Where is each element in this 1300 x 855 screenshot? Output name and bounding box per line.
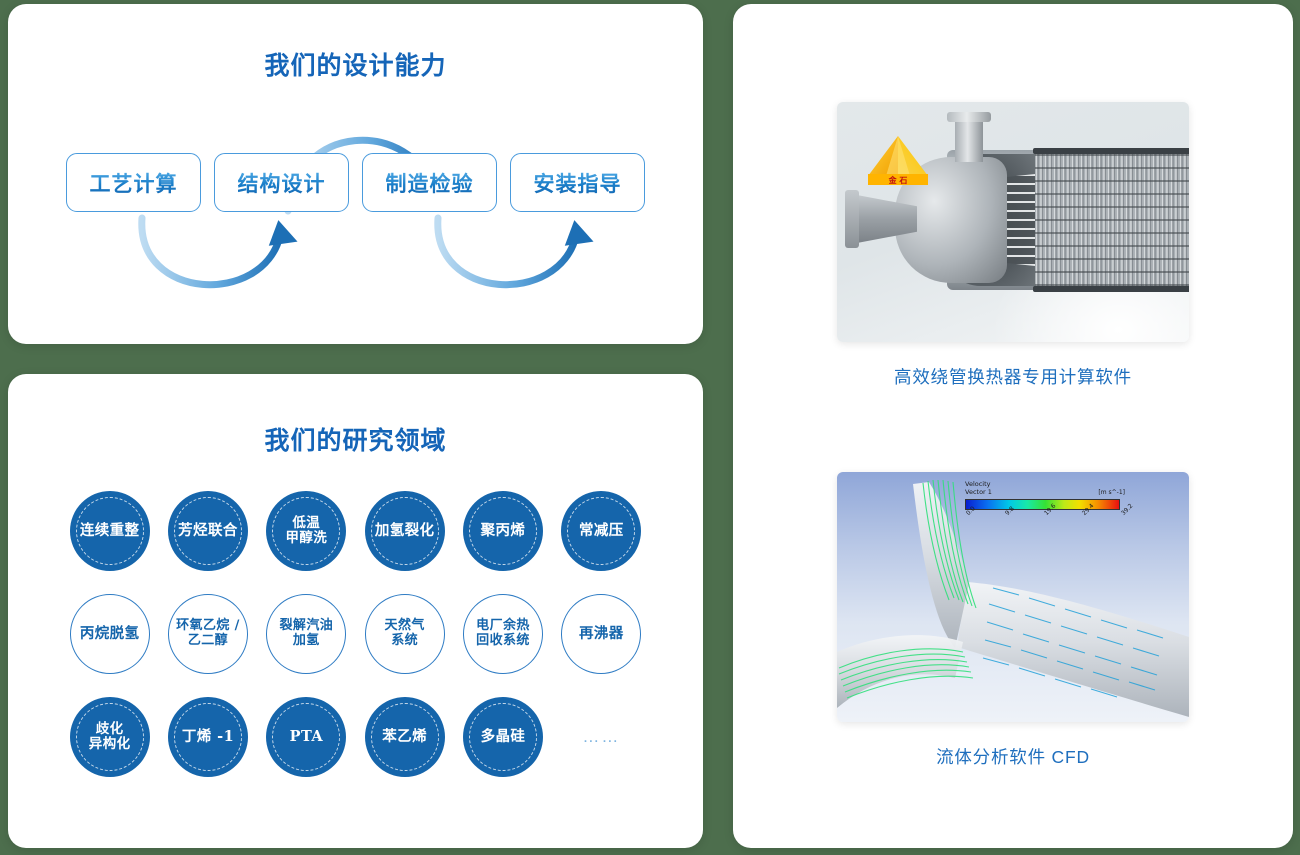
research-area-circle[interactable]: 天然气系统 xyxy=(365,594,445,674)
cfd-legend-title: Velocity xyxy=(965,480,991,488)
page-root: 我们的设计能力 xyxy=(0,0,1300,855)
research-area-label: 连续重整 xyxy=(80,523,140,539)
research-area-label: 电厂余热回收系统 xyxy=(476,619,530,648)
capability-step-1[interactable]: 结构设计 xyxy=(214,153,349,212)
research-area-label: 裂解汽油加氢 xyxy=(280,619,334,648)
research-area-circle[interactable]: 裂解汽油加氢 xyxy=(266,594,346,674)
research-area-label: 加氢裂化 xyxy=(375,523,435,539)
heat-exchanger-flange xyxy=(845,190,859,248)
research-area-label: 歧化异构化 xyxy=(89,722,131,752)
research-area-grid: 连续重整芳烃联合低温甲醇洗加氢裂化聚丙烯常减压丙烷脱氢环氧乙烷 /乙二醇裂解汽油… xyxy=(61,491,651,777)
research-area-label: 天然气系统 xyxy=(385,619,425,648)
research-area-label: 多晶硅 xyxy=(481,729,526,745)
flow-arc-bottom-right xyxy=(438,218,576,285)
research-area-circle[interactable]: 聚丙烯 xyxy=(463,491,543,571)
software-item-heat-exchanger: 金 石 高效绕管换热器专用计算软件 xyxy=(733,102,1293,389)
software-showcase-card: 金 石 高效绕管换热器专用计算软件 xyxy=(733,4,1293,848)
research-area-label: 丙烷脱氢 xyxy=(80,626,140,642)
heat-exchanger-image: 金 石 xyxy=(837,102,1189,342)
research-area-label: 环氧乙烷 /乙二醇 xyxy=(176,619,240,648)
research-area-circle[interactable]: 连续重整 xyxy=(70,491,150,571)
software-item-cfd: Velocity Vector 1 [m s^-1] 0.09.819.629.… xyxy=(733,472,1293,769)
design-capabilities-card: 我们的设计能力 xyxy=(8,4,703,344)
software-caption-cfd: 流体分析软件 CFD xyxy=(733,744,1293,769)
capability-flow-diagram: 工艺计算 结构设计 制造检验 安装指导 xyxy=(8,96,703,296)
capability-step-label: 结构设计 xyxy=(238,168,326,198)
research-area-circle[interactable]: 丙烷脱氢 xyxy=(70,594,150,674)
research-area-circle[interactable]: 芳烃联合 xyxy=(168,491,248,571)
research-area-circle[interactable]: 常减压 xyxy=(561,491,641,571)
heat-exchanger-tube-bundle xyxy=(1035,154,1189,286)
research-area-circle[interactable]: 再沸器 xyxy=(561,594,641,674)
cfd-legend-unit: [m s^-1] xyxy=(1098,489,1125,496)
research-area-circle[interactable]: 电厂余热回收系统 xyxy=(463,594,543,674)
cfd-colorbar-ticks: 0.09.819.629.439.2 xyxy=(965,510,1120,532)
research-area-circle[interactable]: 多晶硅 xyxy=(463,697,543,777)
cfd-legend-subtitle: Vector 1 xyxy=(965,488,992,496)
cfd-image: Velocity Vector 1 [m s^-1] 0.09.819.629.… xyxy=(837,472,1189,722)
capability-step-2[interactable]: 制造检验 xyxy=(362,153,497,212)
capability-step-label: 制造检验 xyxy=(386,168,474,198)
cfd-velocity-legend: Velocity Vector 1 [m s^-1] 0.09.819.629.… xyxy=(965,480,1125,532)
capability-step-3[interactable]: 安装指导 xyxy=(510,153,645,212)
research-area-label: PTA xyxy=(290,729,323,745)
research-areas-card: 我们的研究领域 连续重整芳烃联合低温甲醇洗加氢裂化聚丙烯常减压丙烷脱氢环氧乙烷 … xyxy=(8,374,703,848)
flow-arrowhead-bottom-right xyxy=(561,218,593,246)
research-title: 我们的研究领域 xyxy=(8,421,703,457)
research-area-label: 常减压 xyxy=(579,523,624,539)
capabilities-title: 我们的设计能力 xyxy=(8,46,703,82)
research-area-label: 苯乙烯 xyxy=(382,729,427,745)
research-area-label: …… xyxy=(582,727,620,746)
research-area-circle[interactable]: 歧化异构化 xyxy=(70,697,150,777)
capability-step-label: 安装指导 xyxy=(534,168,622,198)
software-caption-heat-exchanger: 高效绕管换热器专用计算软件 xyxy=(733,364,1293,389)
research-area-circle[interactable]: 丁烯 -1 xyxy=(168,697,248,777)
flow-arc-bottom-left xyxy=(142,218,280,285)
research-area-circle[interactable]: 环氧乙烷 /乙二醇 xyxy=(168,594,248,674)
research-area-circle: …… xyxy=(561,697,641,777)
jinshi-pyramid-logo-icon: 金 石 xyxy=(864,134,932,186)
research-area-circle[interactable]: 加氢裂化 xyxy=(365,491,445,571)
research-area-label: 丁烯 -1 xyxy=(182,729,234,745)
capability-step-list: 工艺计算 结构设计 制造检验 安装指导 xyxy=(8,153,703,212)
research-area-circle[interactable]: 低温甲醇洗 xyxy=(266,491,346,571)
research-area-label: 低温甲醇洗 xyxy=(285,516,327,546)
research-area-label: 聚丙烯 xyxy=(481,523,526,539)
cfd-lower-branch xyxy=(837,635,963,708)
research-area-label: 再沸器 xyxy=(579,626,624,642)
heat-exchanger-nozzle xyxy=(955,118,983,162)
flow-arrowhead-bottom-left xyxy=(265,218,297,246)
capability-step-label: 工艺计算 xyxy=(90,168,178,198)
capability-step-0[interactable]: 工艺计算 xyxy=(66,153,201,212)
research-area-circle[interactable]: 苯乙烯 xyxy=(365,697,445,777)
cfd-colorbar xyxy=(965,499,1120,510)
research-area-circle[interactable]: PTA xyxy=(266,697,346,777)
logo-text: 金 石 xyxy=(888,175,908,185)
heat-exchanger-tubesheet-bottom xyxy=(1033,286,1189,292)
research-area-label: 芳烃联合 xyxy=(178,523,238,539)
heat-exchanger-nozzle-flange xyxy=(947,112,991,122)
